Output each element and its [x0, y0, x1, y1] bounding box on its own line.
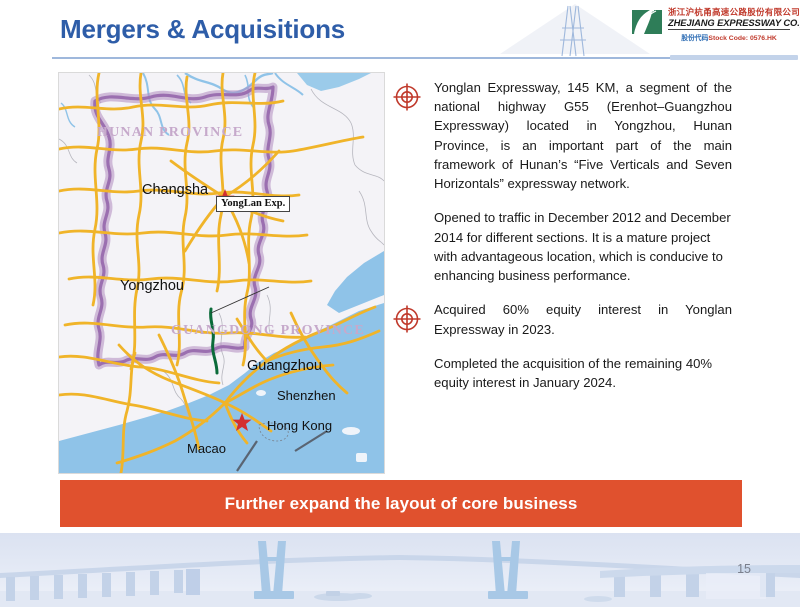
bridge-photo-watermark — [0, 533, 800, 607]
crosshair-target-icon — [392, 304, 422, 334]
paragraph-1: Opened to traffic in December 2012 and D… — [434, 208, 732, 285]
slide: Mergers & Acquisitions 浙江沪杭甬高速公路股份有限公司 Z… — [0, 0, 800, 607]
spacer-3 — [392, 339, 732, 354]
paragraph-2: Completed the acquisition of the remaini… — [434, 354, 732, 392]
zhejiang-expressway-logo-mark — [630, 8, 664, 36]
title-divider-cap — [670, 55, 798, 60]
bullet-text-2: Acquired 60% equity interest in Yonglan … — [434, 300, 732, 338]
bullet-item-1: Yonglan Expressway, 145 KM, a segment of… — [392, 78, 732, 193]
logo-stock-code: 股份代码Stock Code: 0576.HK — [668, 32, 790, 42]
page-title: Mergers & Acquisitions — [60, 14, 345, 45]
logo-stock-code-en: Stock Code: 0576.HK — [708, 35, 776, 42]
bullet-item-2: Acquired 60% equity interest in Yonglan … — [392, 300, 732, 338]
map-label-yonglan-exp: YongLan Exp. — [216, 196, 290, 212]
spacer-2 — [392, 285, 732, 300]
hunan-guangdong-expressway-map: HUNAN PROVINCE GUANGDONG PROVINCE Changs… — [58, 72, 385, 474]
page-number: 15 — [737, 562, 751, 576]
spacer-1 — [392, 193, 732, 208]
highlight-banner-text: Further expand the layout of core busine… — [225, 494, 578, 514]
map-graphic — [59, 73, 384, 473]
company-logo: 浙江沪杭甬高速公路股份有限公司 ZHEJIANG EXPRESSWAY CO.,… — [630, 6, 790, 50]
content-column: Yonglan Expressway, 145 KM, a segment of… — [392, 78, 732, 392]
logo-stock-code-cn: 股份代码 — [681, 35, 708, 42]
crosshair-target-icon — [392, 82, 422, 112]
bullet-text-1: Yonglan Expressway, 145 KM, a segment of… — [434, 78, 732, 193]
slide-header: Mergers & Acquisitions 浙江沪杭甬高速公路股份有限公司 Z… — [0, 0, 800, 60]
logo-company-name-en: ZHEJIANG EXPRESSWAY CO., LTD. — [668, 17, 800, 28]
highlight-banner: Further expand the layout of core busine… — [60, 480, 742, 527]
logo-divider — [668, 29, 790, 30]
slide-footer: 15 — [0, 533, 800, 607]
